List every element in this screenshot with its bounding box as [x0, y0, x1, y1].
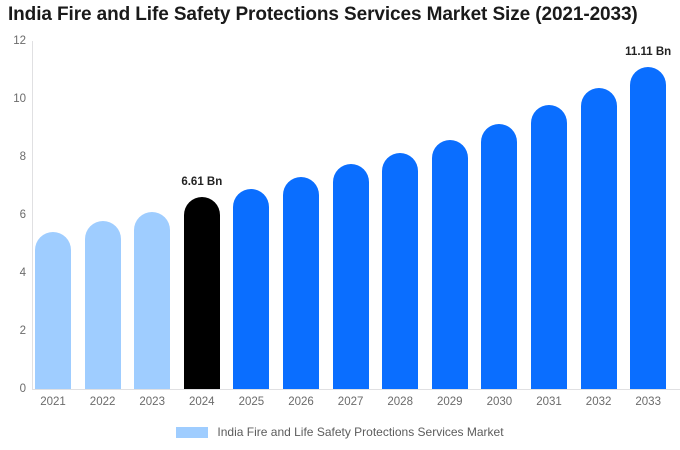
bar-2030[interactable] — [481, 124, 517, 389]
chart-legend: India Fire and Life Safety Protections S… — [0, 425, 680, 439]
x-axis-tick-label: 2029 — [432, 396, 468, 408]
bar-2029[interactable] — [432, 140, 468, 389]
x-axis-tick-label: 2023 — [134, 396, 170, 408]
x-axis-tick-label: 2031 — [531, 396, 567, 408]
bar-2027[interactable] — [333, 164, 369, 389]
x-axis-tick-label: 2025 — [233, 396, 269, 408]
x-axis-tick-label: 2028 — [382, 396, 418, 408]
bar-value-label-2024: 6.61 Bn — [181, 176, 222, 188]
plot-area — [32, 41, 680, 389]
bar-2024[interactable] — [184, 197, 220, 389]
y-axis-tick-label: 0 — [2, 383, 26, 395]
x-axis-tick-label: 2026 — [283, 396, 319, 408]
bar-chart: India Fire and Life Safety Protections S… — [0, 0, 680, 450]
bar-2026[interactable] — [283, 177, 319, 389]
y-axis-tick-label: 12 — [2, 35, 26, 47]
y-axis-tick-label: 8 — [2, 151, 26, 163]
y-axis-tick-label: 2 — [2, 325, 26, 337]
y-axis-tick-label: 6 — [2, 209, 26, 221]
bar-2023[interactable] — [134, 212, 170, 389]
bar-2021[interactable] — [35, 232, 71, 389]
x-axis-tick-label: 2033 — [630, 396, 666, 408]
bar-2028[interactable] — [382, 153, 418, 389]
bar-2032[interactable] — [581, 88, 617, 389]
bar-2022[interactable] — [85, 221, 121, 389]
legend-swatch-icon — [176, 427, 208, 438]
bar-2031[interactable] — [531, 105, 567, 389]
chart-title: India Fire and Life Safety Protections S… — [8, 4, 638, 26]
x-axis-line — [32, 389, 680, 390]
bar-2033[interactable] — [630, 67, 666, 389]
y-axis-tick-label: 4 — [2, 267, 26, 279]
legend-label: India Fire and Life Safety Protections S… — [217, 425, 503, 439]
y-axis-tick-label: 10 — [2, 93, 26, 105]
bar-value-label-2033: 11.11 Bn — [625, 46, 671, 58]
x-axis-tick-label: 2027 — [333, 396, 369, 408]
x-axis-tick-label: 2021 — [35, 396, 71, 408]
bar-2025[interactable] — [233, 189, 269, 389]
x-axis-tick-label: 2024 — [184, 396, 220, 408]
x-axis-tick-label: 2022 — [85, 396, 121, 408]
x-axis-tick-label: 2032 — [581, 396, 617, 408]
x-axis-tick-label: 2030 — [481, 396, 517, 408]
